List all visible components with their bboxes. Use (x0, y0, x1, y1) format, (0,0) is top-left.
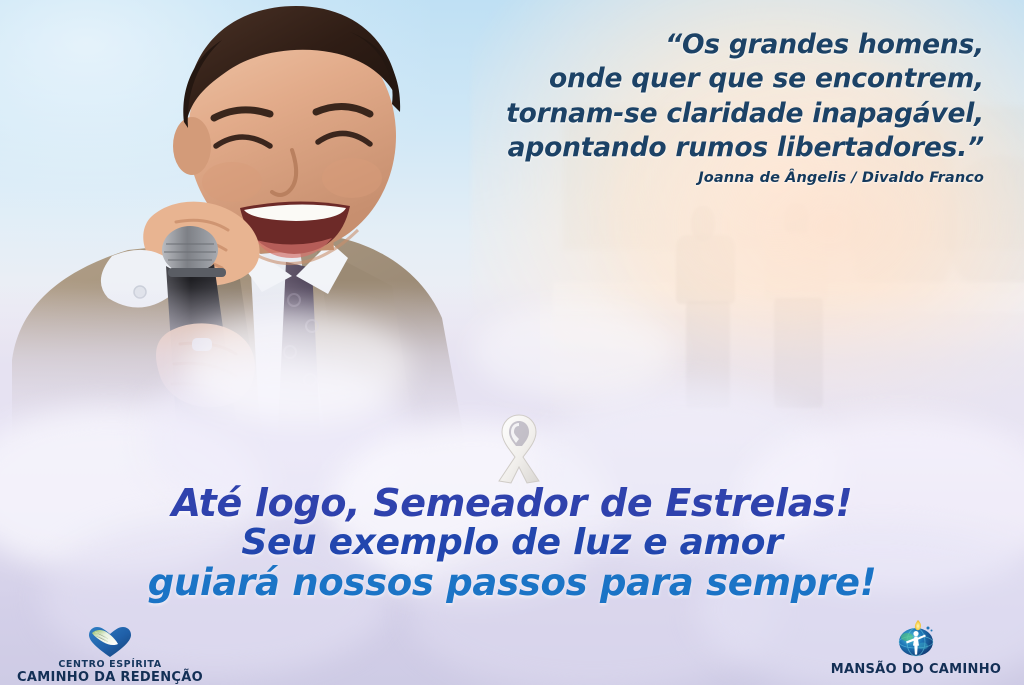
portrait-bottom-fade (0, 280, 540, 470)
logo-right-line-1: MANSÃO DO CAMINHO (816, 662, 1016, 677)
quote-attribution: Joanna de Ângelis / Divaldo Franco (424, 170, 984, 186)
logo-left-line-1: CENTRO ESPÍRITA (10, 659, 210, 670)
heart-hand-icon (87, 626, 133, 658)
headline-line-3: guiará nossos passos para sempre! (0, 562, 1024, 603)
logo-centro-espirita: CENTRO ESPÍRITA CAMINHO DA REDENÇÃO (10, 626, 210, 685)
memorial-poster: “Os grandes homens, onde quer que se enc… (0, 0, 1024, 685)
quote-text: “Os grandes homens, onde quer que se enc… (424, 28, 984, 166)
quote-line-1: “Os grandes homens, (424, 28, 984, 62)
quote-line-2: onde quer que se encontrem, (424, 62, 984, 96)
quote-line-4: apontando rumos libertadores.” (424, 131, 984, 165)
logo-left-line-2: CAMINHO DA REDENÇÃO (10, 670, 210, 685)
quote-line-3: tornam-se claridade inapagável, (424, 97, 984, 131)
white-ribbon-icon (489, 409, 549, 487)
headline-line-1: Até logo, Semeador de Estrelas! (0, 483, 1024, 523)
headline-block: Até logo, Semeador de Estrelas! Seu exem… (0, 483, 1024, 603)
globe-figure-torch-icon (894, 618, 938, 660)
logo-mansao-do-caminho: MANSÃO DO CAMINHO (816, 618, 1016, 677)
headline-line-2: Seu exemplo de luz e amor (0, 523, 1024, 562)
